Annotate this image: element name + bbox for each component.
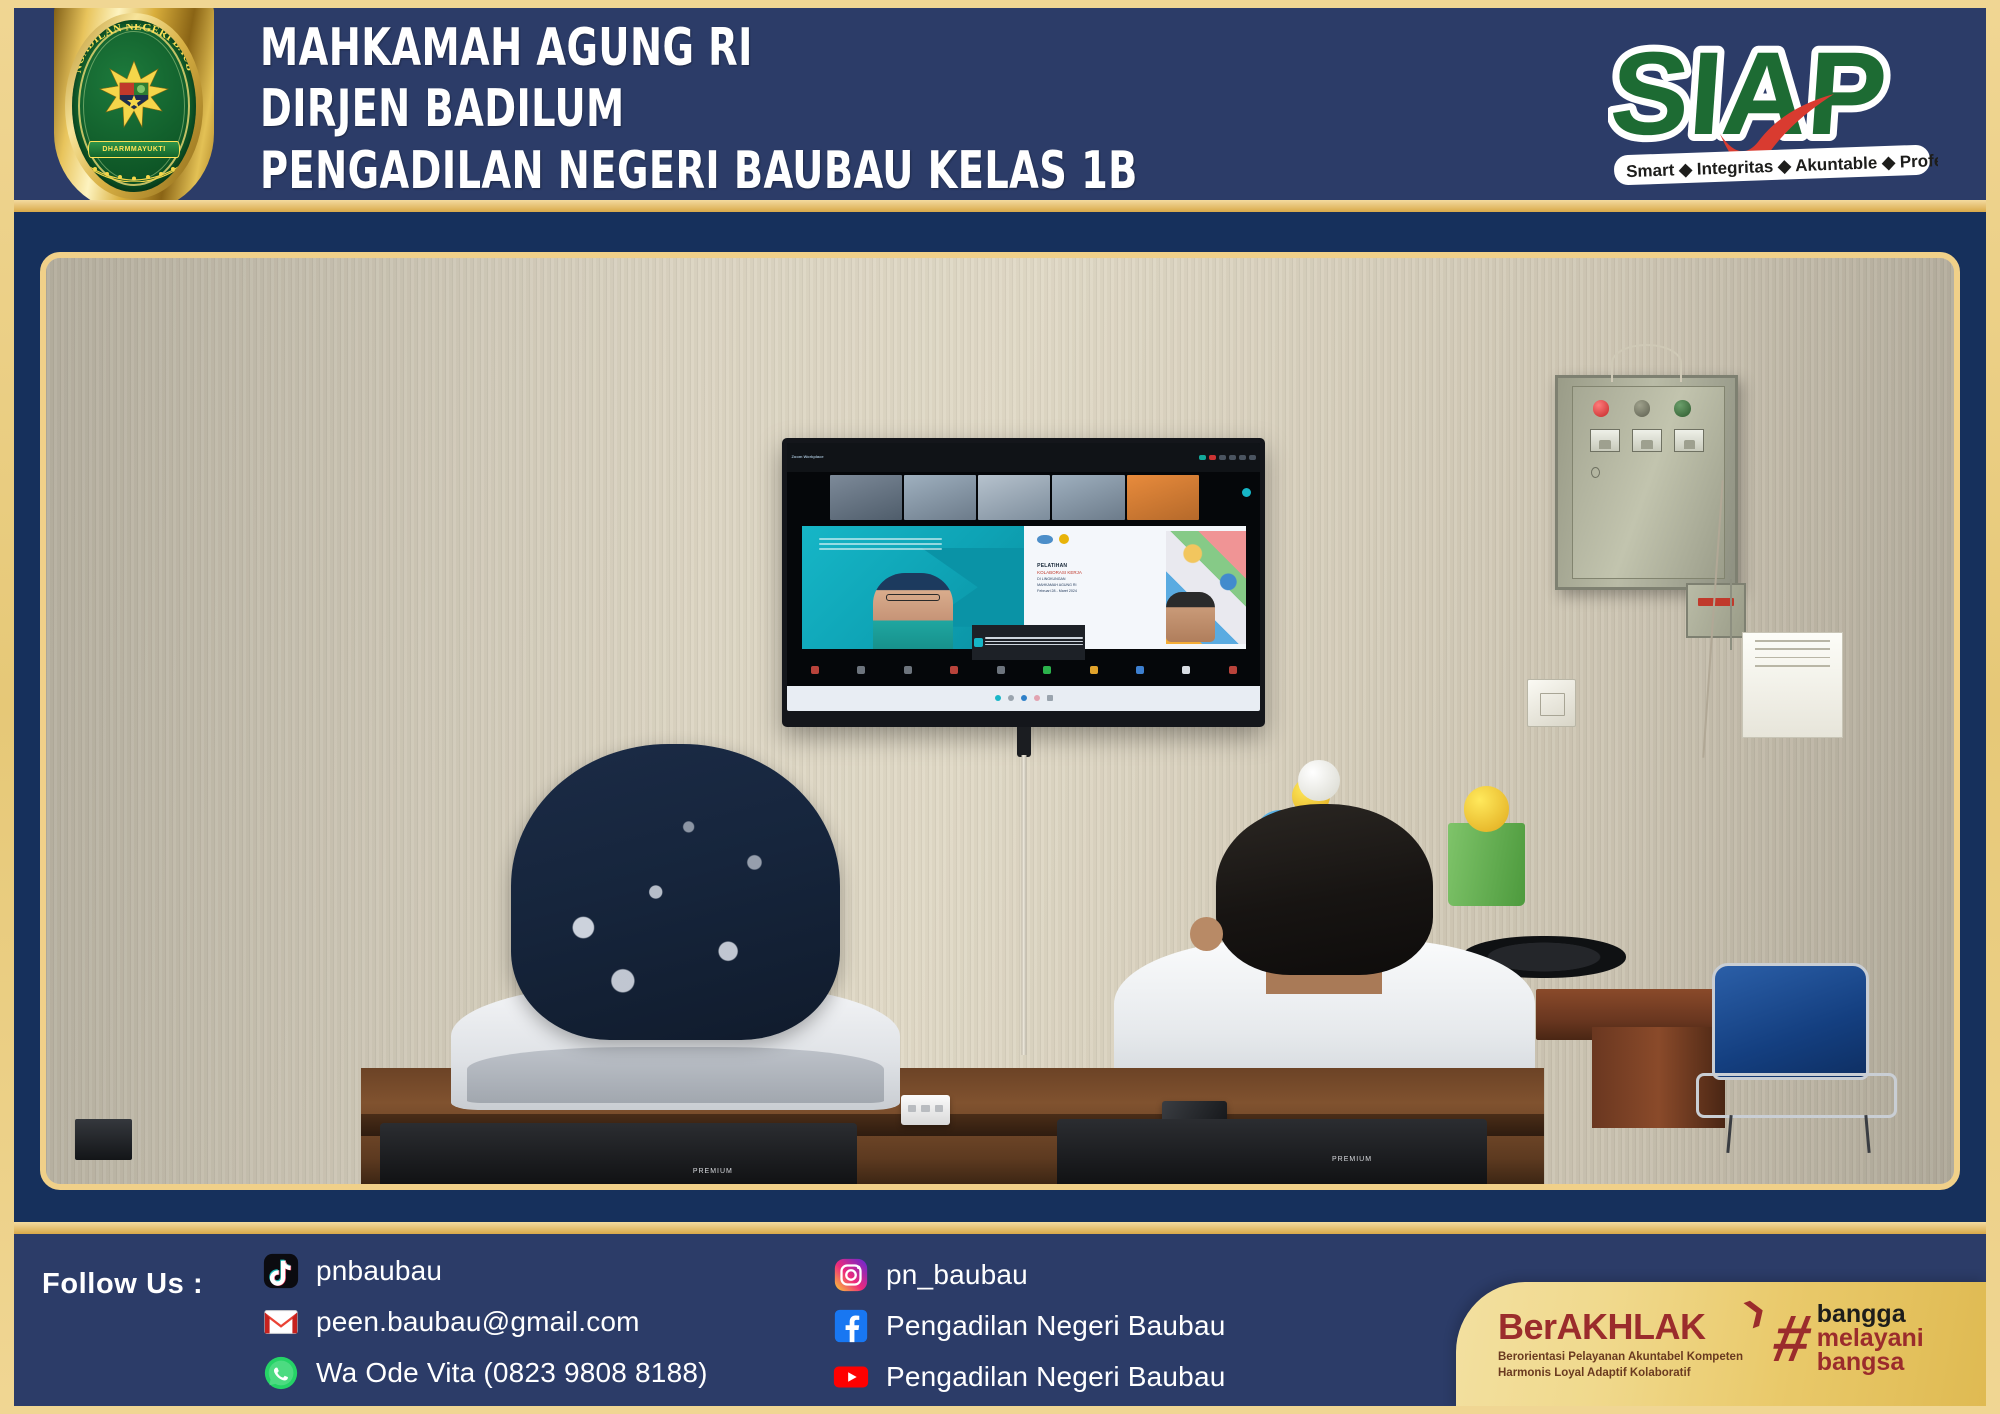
emblem-chain-wreath (79, 160, 189, 182)
chair-backrest (1712, 963, 1868, 1081)
left-chair-back (380, 1123, 857, 1184)
panel-door (1572, 386, 1724, 579)
header-bar: PENGADILAN NEGERI BAUBAU (14, 8, 1986, 204)
panel-indicator-red (1593, 400, 1610, 417)
social-row-instagram[interactable]: pn_baubau (832, 1256, 1226, 1294)
right-chair-back (1057, 1119, 1486, 1184)
panel-meter (1674, 429, 1704, 452)
page-title-line3: PENGADILAN NEGERI BAUBAU KELAS 1B (260, 140, 1162, 202)
slide-date: Februari 28 - Maret 2024 (1037, 589, 1153, 593)
male-attendee (1143, 804, 1506, 1110)
panel-meter (1590, 429, 1620, 452)
berakhlak-subtitle-1: Berorientasi Pelayanan Akuntabel Kompete… (1498, 1350, 1743, 1364)
poster-root: PENGADILAN NEGERI BAUBAU (0, 0, 2000, 1414)
bangga-word-3: bangsa (1817, 1350, 1924, 1374)
male-ear (1190, 917, 1223, 951)
slide-presenter-photo (1166, 592, 1215, 641)
social-row-facebook[interactable]: Pengadilan Negeri Baubau (832, 1307, 1226, 1345)
berakhlak-text-block: BerAKHLAK ❯ Berorientasi Pelayanan Akunt… (1498, 1306, 1743, 1380)
zoom-view-pill (1219, 455, 1226, 460)
slide-subheading: KOLABORASI KERJA (1037, 570, 1153, 575)
blue-visitor-chair (1696, 963, 1896, 1153)
panel-door-handle (1591, 467, 1600, 478)
berakhlak-badge: BerAKHLAK ❯ Berorientasi Pelayanan Akunt… (1456, 1282, 1986, 1406)
taskbar-item (1008, 695, 1014, 701)
berakhlak-arrow-icon: ❯ (1739, 1293, 1770, 1329)
berakhlak-title-wrap: BerAKHLAK ❯ (1498, 1306, 1743, 1348)
window-close (1249, 455, 1256, 460)
chair-seat (1696, 1073, 1896, 1119)
chair-leg (1727, 1115, 1733, 1153)
taskbar-item (1034, 695, 1040, 701)
instagram-handle: pn_baubau (886, 1259, 1028, 1291)
taskbar-item (1047, 695, 1053, 701)
participant-scroll-dot (1242, 488, 1251, 497)
berakhlak-subtitle-2: Harmonis Loyal Adaptif Kolaboratif (1498, 1366, 1743, 1380)
header-title-block: MAHKAMAH AGUNG RI DIRJEN BADILUM PENGADI… (260, 18, 1360, 202)
siap-logo-graphic: SIAP SIAP Smart ◆ Integritas ◆ Akuntable… (1608, 22, 1938, 194)
instagram-icon (832, 1256, 870, 1294)
male-head (1216, 804, 1434, 975)
social-column-left: pnbaubau peen.baubau@gmail.com Wa Ode Vi… (262, 1252, 708, 1392)
caption-avatar (974, 638, 983, 647)
panel-switch-gray (1634, 400, 1651, 417)
youtube-icon (832, 1358, 870, 1396)
footer-gold-divider (14, 1222, 1986, 1234)
speaker-person (873, 573, 953, 649)
emblem-banner-label: DHARMMAYUKTI (102, 146, 165, 153)
social-column-right: pn_baubau Pengadilan Negeri Baubau Penga… (832, 1256, 1226, 1396)
chair-leg (1864, 1115, 1870, 1153)
electrical-panel (1555, 375, 1738, 591)
taskbar-item (1021, 695, 1027, 701)
female-floral-hijab (511, 744, 840, 1040)
social-row-tiktok[interactable]: pnbaubau (262, 1252, 708, 1290)
tv-mount-bracket (1017, 727, 1031, 757)
zoom-status-pill (1199, 455, 1206, 460)
event-photo: Zoom Workplace (40, 252, 1960, 1190)
mute-audio-icon (811, 666, 819, 674)
slide-logo-primary (1037, 535, 1053, 544)
slide-logos (1037, 534, 1069, 544)
slide-heading-block: PELATIHAN KOLABORASI KERJA DI LINGKUNGAN… (1037, 563, 1153, 593)
caption-lines (985, 637, 1083, 647)
window-minimize (1229, 455, 1236, 460)
flower-white (1298, 760, 1339, 801)
court-emblem: PENGADILAN NEGERI BAUBAU (54, 8, 214, 204)
bangga-word-2: melayani (1817, 1326, 1924, 1350)
bangga-words: bangga melayani bangsa (1817, 1302, 1924, 1374)
chat-icon (950, 666, 958, 674)
social-row-gmail[interactable]: peen.baubau@gmail.com (262, 1303, 708, 1341)
emblem-green-field: PENGADILAN NEGERI BAUBAU (72, 20, 196, 192)
youtube-channel-name: Pengadilan Negeri Baubau (886, 1361, 1226, 1393)
zoom-titlebar: Zoom Workplace (787, 443, 1260, 472)
participant-thumb (978, 475, 1050, 521)
follow-us-label: Follow Us : (42, 1268, 203, 1301)
social-row-youtube[interactable]: Pengadilan Negeri Baubau (832, 1358, 1226, 1396)
react-icon (997, 666, 1005, 674)
header-gold-divider (14, 200, 1986, 212)
wall-outlet (1527, 679, 1577, 727)
zoom-window-controls (1199, 455, 1256, 460)
panel-conduit-wire (1611, 344, 1682, 382)
apps-icon (1136, 666, 1144, 674)
siap-logo: SIAP SIAP Smart ◆ Integritas ◆ Akuntable… (1608, 22, 1938, 194)
tiktok-icon (262, 1252, 300, 1290)
panel-switch-green (1674, 400, 1691, 417)
berakhlak-title: BerAKHLAK (1498, 1306, 1706, 1347)
panel-meter (1632, 429, 1662, 452)
gmail-icon (262, 1303, 300, 1341)
video-camera-icon (857, 666, 865, 674)
wall-television: Zoom Workplace (782, 438, 1265, 727)
zoom-recording-pill (1209, 455, 1216, 460)
page-title-line1: MAHKAMAH AGUNG RI (260, 18, 1162, 78)
tv-floor-pole (1021, 755, 1026, 1055)
slide-heading: PELATIHAN (1037, 563, 1153, 569)
participant-thumb (904, 475, 976, 521)
photo-band: Zoom Workplace (14, 212, 1986, 1222)
tv-remote-control (901, 1095, 951, 1125)
slide-line3: DI LINGKUNGAN (1037, 577, 1153, 581)
hashtag-icon: # (1768, 1305, 1816, 1371)
far-left-monitor (75, 1119, 132, 1160)
facebook-icon (832, 1307, 870, 1345)
participant-thumb (1127, 475, 1199, 521)
zoom-toolbar (787, 654, 1260, 686)
facebook-page-name: Pengadilan Negeri Baubau (886, 1310, 1226, 1342)
panel-cable (1730, 579, 1732, 650)
zoom-app-name: Zoom Workplace (791, 455, 823, 459)
female-shoulder-shawl (467, 1047, 884, 1103)
emblem-crest-star (98, 59, 170, 131)
footer-bar: Follow Us : pnbaubau (14, 1234, 1986, 1406)
bangga-word-1: bangga (1817, 1302, 1924, 1326)
svg-text:SIAP: SIAP (1608, 28, 1891, 160)
social-row-whatsapp[interactable]: Wa Ode Vita (0823 9808 8188) (262, 1354, 708, 1392)
gmail-address: peen.baubau@gmail.com (316, 1306, 640, 1338)
wall-notice-paper (1742, 632, 1843, 738)
whatsapp-contact: Wa Ode Vita (0823 9808 8188) (316, 1357, 708, 1389)
participant-thumb (830, 475, 902, 521)
bangga-melayani-lockup: # bangga melayani bangsa (1774, 1302, 1924, 1374)
slide-line4: MAHKAMAH AGUNG RI (1037, 583, 1153, 587)
windows-taskbar (787, 686, 1260, 710)
female-attendee (475, 758, 876, 1110)
page-title-line2: DIRJEN BADILUM (260, 78, 1162, 140)
slide-logo-secondary (1059, 534, 1069, 544)
emblem-banner: DHARMMAYUKTI (88, 141, 180, 158)
participants-icon (904, 666, 912, 674)
window-maximize (1239, 455, 1246, 460)
taskbar-item (995, 695, 1001, 701)
tv-screen: Zoom Workplace (787, 443, 1260, 711)
participant-thumbnail-strip (830, 475, 1199, 521)
participant-thumb (1052, 475, 1124, 521)
more-icon (1182, 666, 1190, 674)
emblem-oval-frame: PENGADILAN NEGERI BAUBAU (65, 13, 203, 199)
tiktok-handle: pnbaubau (316, 1255, 442, 1287)
whatsapp-icon (262, 1354, 300, 1392)
speaker-bg-text (819, 538, 941, 553)
speaker-glasses (886, 594, 940, 601)
record-icon (1090, 666, 1098, 674)
share-screen-icon (1043, 666, 1051, 674)
leave-meeting-icon (1229, 666, 1237, 674)
